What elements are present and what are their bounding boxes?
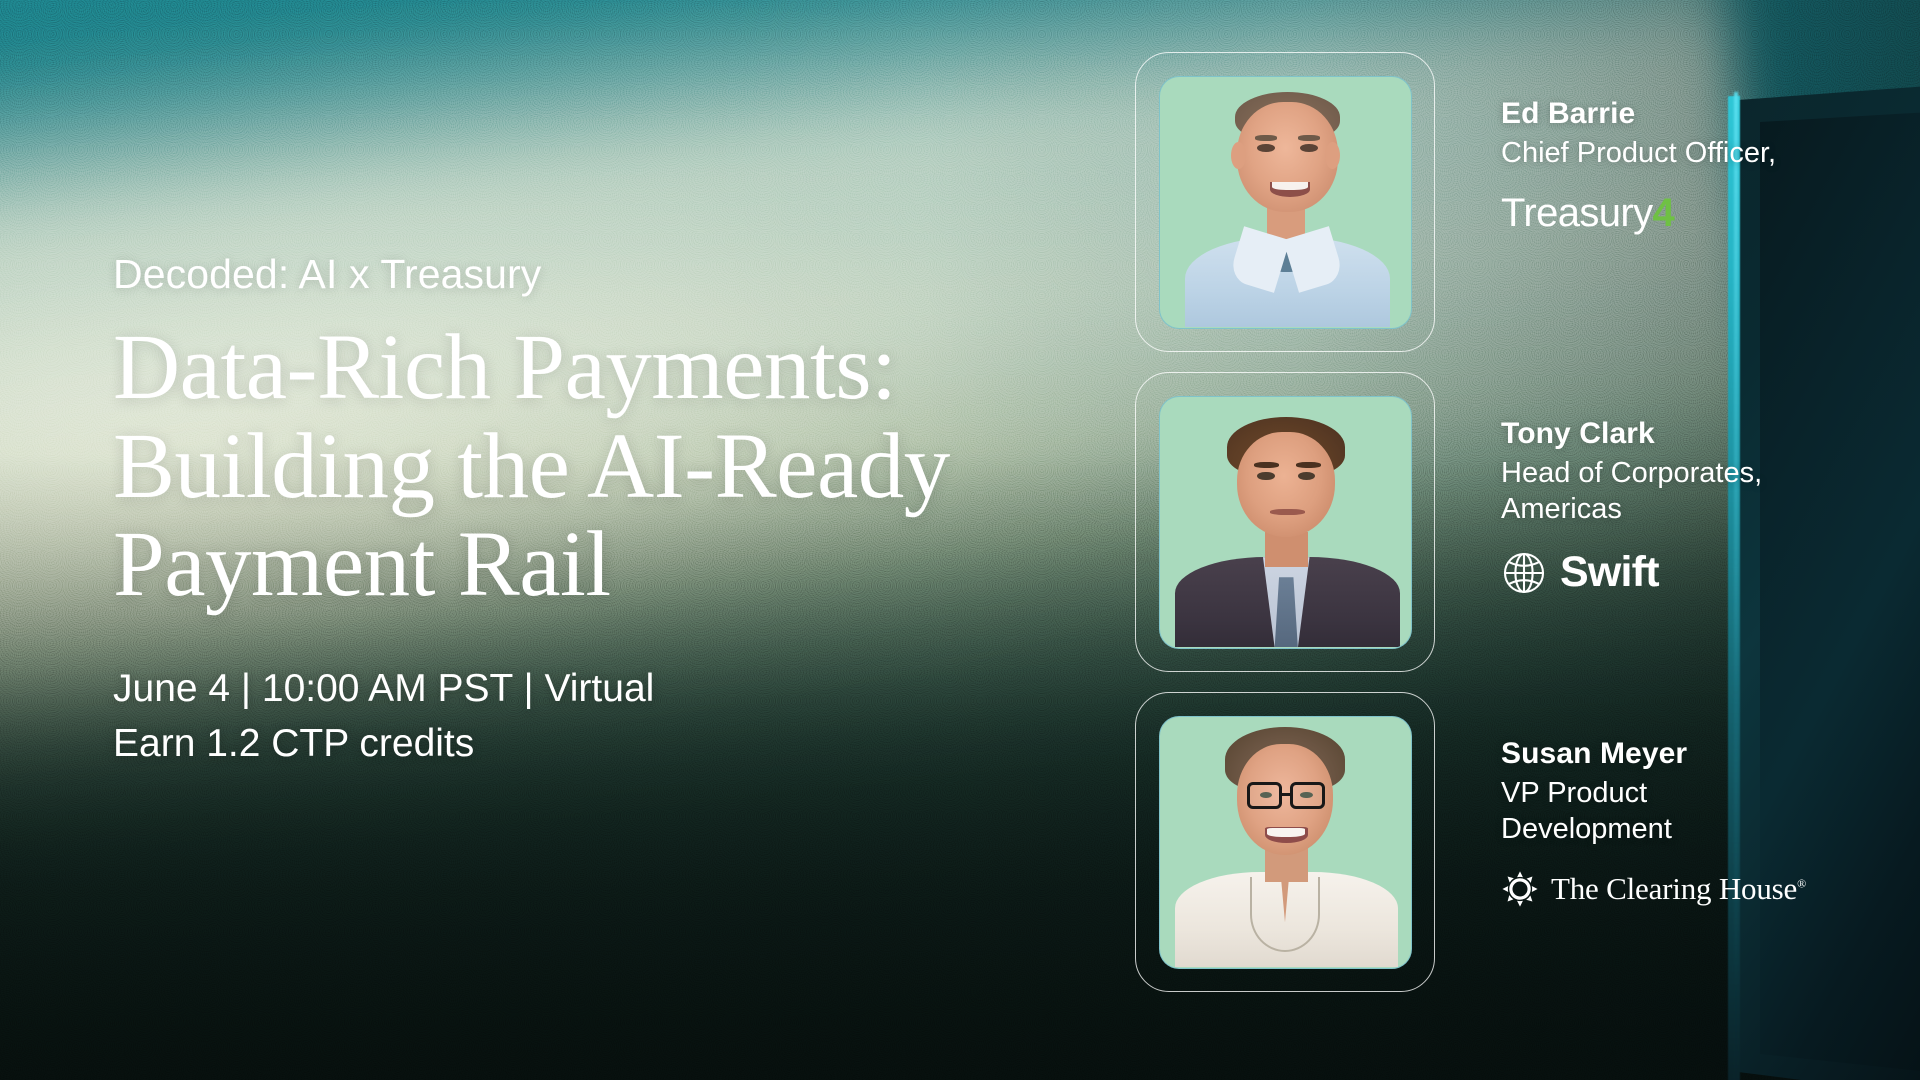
speaker-company-logo: Treasury4	[1501, 193, 1895, 233]
treasury4-word: Treasury	[1501, 191, 1653, 235]
treasury4-wordmark: Treasury4	[1501, 193, 1674, 233]
speaker-info: Tony Clark Head of Corporates, Americas	[1435, 372, 1895, 596]
clearing-house-word: The Clearing House	[1551, 871, 1797, 906]
portrait-susan-meyer	[1160, 717, 1411, 968]
clearing-house-wordmark: The Clearing House®	[1551, 873, 1806, 904]
speaker-photo-frame	[1135, 52, 1435, 352]
speaker-company-logo: Swift	[1501, 550, 1895, 596]
speaker-info: Ed Barrie Chief Product Officer, Treasur…	[1435, 52, 1895, 233]
speaker-card-tony-clark: Tony Clark Head of Corporates, Americas	[1135, 372, 1895, 672]
sunburst-icon	[1501, 870, 1539, 908]
avatar	[1159, 716, 1412, 969]
avatar	[1159, 396, 1412, 649]
avatar	[1159, 76, 1412, 329]
treasury4-numeral: 4	[1653, 191, 1675, 235]
speaker-info: Susan Meyer VP Product Development	[1435, 692, 1895, 908]
globe-icon	[1501, 550, 1547, 596]
speaker-card-susan-meyer: Susan Meyer VP Product Development	[1135, 692, 1895, 992]
event-details: June 4 | 10:00 AM PST | Virtual Earn 1.2…	[113, 661, 1113, 772]
headline-block: Decoded: AI x Treasury Data-Rich Payment…	[113, 252, 1113, 772]
swift-wordmark: Swift	[1560, 551, 1659, 594]
speaker-title: VP Product Development	[1501, 775, 1811, 848]
event-date-time-format: June 4 | 10:00 AM PST | Virtual	[113, 661, 1113, 716]
speaker-card-ed-barrie: Ed Barrie Chief Product Officer, Treasur…	[1135, 52, 1895, 352]
speaker-title: Head of Corporates, Americas	[1501, 455, 1811, 528]
eyebrow-series-title: Decoded: AI x Treasury	[113, 252, 1113, 297]
registered-mark: ®	[1797, 877, 1806, 891]
swift-logo: Swift	[1501, 550, 1659, 596]
speaker-title: Chief Product Officer,	[1501, 135, 1811, 172]
event-credits: Earn 1.2 CTP credits	[113, 716, 1113, 771]
speaker-name: Tony Clark	[1501, 416, 1895, 453]
speaker-name: Ed Barrie	[1501, 96, 1895, 133]
speaker-photo-frame	[1135, 692, 1435, 992]
clearing-house-logo: The Clearing House®	[1501, 870, 1806, 908]
portrait-tony-clark	[1160, 397, 1411, 648]
speaker-list: Ed Barrie Chief Product Officer, Treasur…	[1135, 52, 1895, 1032]
portrait-ed-barrie	[1160, 77, 1411, 328]
speaker-name: Susan Meyer	[1501, 736, 1895, 773]
speaker-photo-frame	[1135, 372, 1435, 672]
promo-graphic-stage: Decoded: AI x Treasury Data-Rich Payment…	[0, 0, 1920, 1080]
page-title: Data-Rich Payments: Building the AI-Read…	[113, 319, 1073, 615]
speaker-company-logo: The Clearing House®	[1501, 870, 1895, 908]
